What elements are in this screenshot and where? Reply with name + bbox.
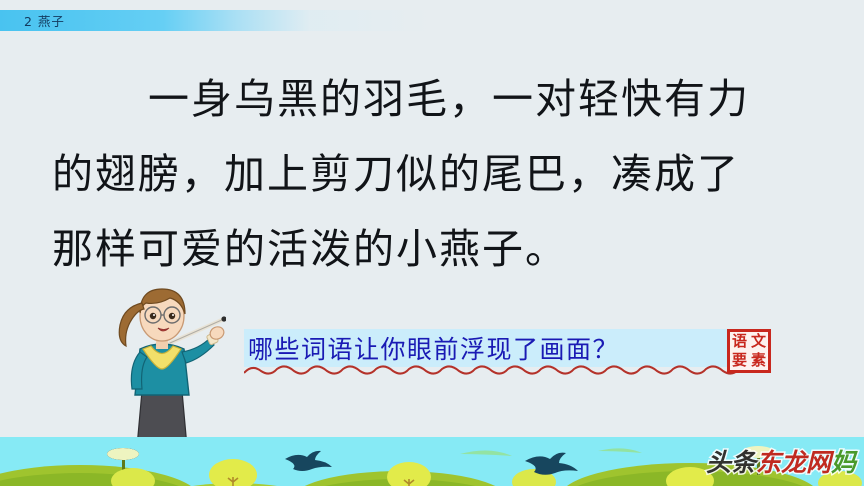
lesson-line-3: 那样可爱的活泼的小燕子。 — [52, 212, 812, 287]
watermark: 头条东龙网妈 — [706, 443, 856, 479]
watermark-segment-3: 妈 — [831, 448, 856, 477]
watermark-segment-1: 头条 — [706, 448, 756, 477]
lesson-paragraph: 一身乌黑的羽毛，一对轻快有力 的翅膀，加上剪刀似的尾巴，凑成了 那样可爱的活泼的… — [52, 62, 812, 287]
seal-char-su: 素 — [749, 351, 768, 370]
language-element-seal-stamp: 语 文 要 素 — [727, 329, 771, 373]
seal-char-yao: 要 — [730, 351, 749, 370]
watermark-segment-2: 东龙网 — [756, 448, 831, 477]
seal-char-wen: 文 — [749, 332, 768, 351]
slide-canvas: 2 燕子 一身乌黑的羽毛，一对轻快有力 的翅膀，加上剪刀似的尾巴，凑成了 那样可… — [0, 0, 864, 486]
swallow-bird-left — [285, 451, 332, 471]
lesson-line-1: 一身乌黑的羽毛，一对轻快有力 — [52, 62, 812, 137]
page-title: 2 燕子 — [24, 11, 65, 30]
light-streaks — [460, 448, 642, 456]
teacher-character-illustration — [96, 283, 226, 458]
teacher-ponytail — [119, 303, 144, 346]
question-text: 哪些词语让你眼前浮现了画面？ — [244, 330, 619, 366]
question-callout-box: 哪些词语让你眼前浮现了画面？ — [244, 329, 729, 367]
wavy-underline-decoration — [244, 364, 744, 378]
lesson-line-2: 的翅膀，加上剪刀似的尾巴，凑成了 — [52, 137, 812, 212]
seal-char-yu: 语 — [730, 332, 749, 351]
